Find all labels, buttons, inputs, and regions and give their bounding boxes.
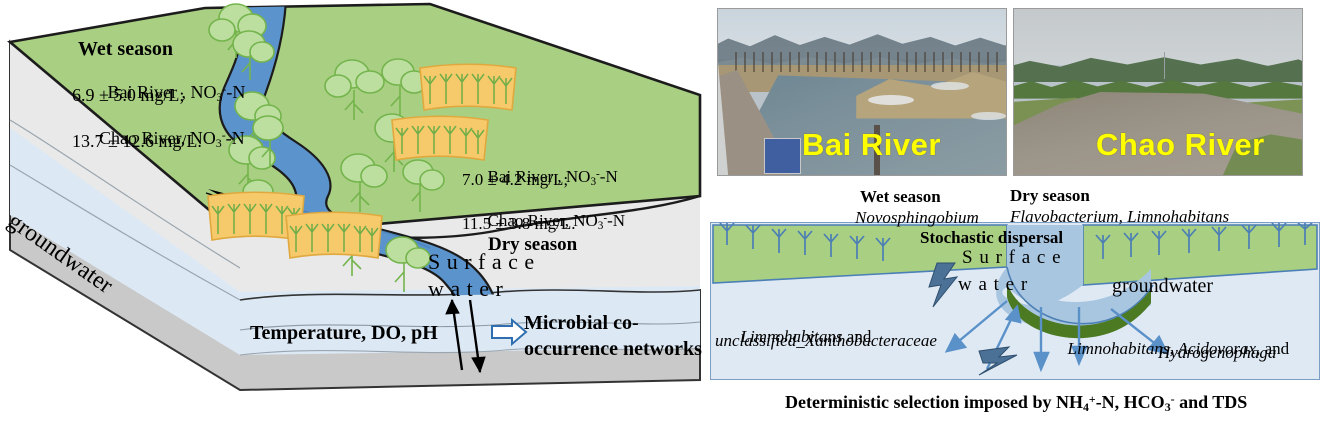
graphical-abstract: Wet season Bai River , NO3--N 6.9 ± 5.0 … <box>0 0 1338 403</box>
bai-river-photo-label: Bai River <box>802 127 941 163</box>
caption-prefix: Deterministic selection imposed by NH <box>785 392 1083 412</box>
crop-patch <box>286 212 382 258</box>
dry-season-bai-value: 7.0 ± 4.2 mg/L; <box>462 170 568 189</box>
chao-river-photo: Chao River <box>1013 8 1303 176</box>
landscape-block-diagram: Wet season Bai River , NO3--N 6.9 ± 5.0 … <box>0 0 720 403</box>
dry-chao-suffix: -N <box>607 211 625 230</box>
dry-bai-suffix: -N <box>600 167 618 186</box>
wet-chao-suffix: -N <box>226 128 245 148</box>
wet-season-bai-value: 6.9 ± 5.0 mg/L; <box>72 85 184 105</box>
xsec-dry-season-heading: Dry season <box>1010 186 1090 205</box>
photo-bare-trees <box>735 52 1000 72</box>
surface-water-label-line1: S u r f a c e <box>428 250 535 275</box>
stochastic-dispersal-label: Stochastic dispersal <box>920 228 1063 247</box>
crop-patch <box>420 64 516 110</box>
xsec-right-taxa-line2: Hydrogenophaga <box>1158 343 1276 362</box>
right-panel: Bai River Chao River <box>700 0 1338 403</box>
dry-season-chao-value: 11.5 ± 3.8 mg/L. <box>462 214 576 233</box>
caption-mid: -N, HCO <box>1096 392 1165 412</box>
wet-bai-suffix: -N <box>226 82 245 102</box>
xsec-groundwater-label: groundwater <box>1112 275 1213 297</box>
network-label-line1: Microbial co- <box>524 312 639 334</box>
deterministic-lightning-bolt <box>979 347 1017 375</box>
caption-sup1: + <box>1089 392 1096 406</box>
xsec-dry-season-taxa: Flavobacterium, Limnohabitans <box>1010 207 1229 226</box>
photo-pole <box>1164 52 1166 79</box>
xsec-wet-season-heading: Wet season <box>860 187 941 206</box>
chao-river-photo-label: Chao River <box>1096 127 1265 163</box>
xsec-surface-water-line2: w a t e r <box>958 274 1028 295</box>
wet-season-chao-value: 13.7 ± 12.6 mg/L. <box>72 131 202 151</box>
bai-river-photo: Bai River <box>717 8 1007 176</box>
xsec-surface-water-line1: S u r f a c e <box>962 247 1062 268</box>
bottom-caption: Deterministic selection imposed by NH4+-… <box>758 372 1247 435</box>
network-label-line2: occurrence networks <box>524 338 702 360</box>
caption-suffix: and TDS <box>1175 392 1248 412</box>
xsec-wet-season-taxa: Novosphingobium <box>855 208 979 227</box>
photo-sign <box>764 138 801 173</box>
photo-sky <box>1014 9 1302 65</box>
surface-water-label-line2: w a t e r <box>428 277 503 302</box>
drivers-label: Temperature, DO, pH <box>250 322 438 344</box>
wet-season-heading: Wet season <box>78 38 173 60</box>
xsec-left-taxa-line2: unclassified_Xanthobacteraceae <box>715 331 937 350</box>
